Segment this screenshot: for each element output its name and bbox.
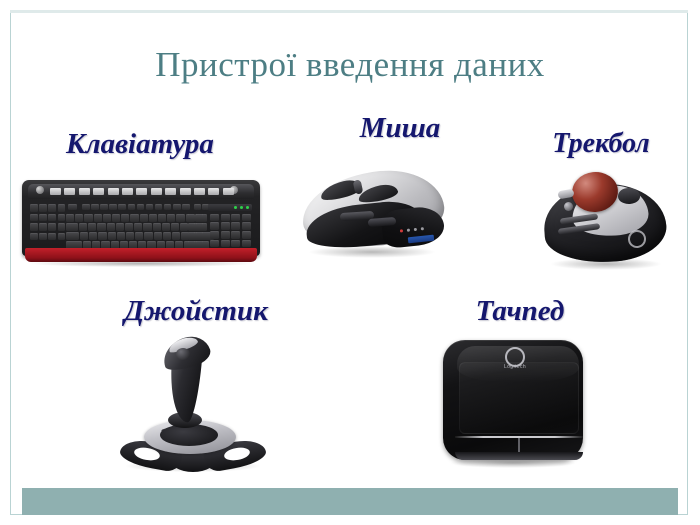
keyboard-key: [196, 232, 203, 240]
keyboard-key: [194, 204, 201, 210]
slide-frame-top-accent: [10, 10, 688, 13]
keyboard-media-key: [165, 188, 176, 195]
keyboard-key: [164, 204, 172, 210]
mouse-dpi-dot-active: [400, 229, 403, 232]
keyboard-key: [221, 214, 230, 222]
footer-accent-bar: [22, 488, 678, 515]
keyboard-key: [172, 232, 180, 240]
keyboard-key: [39, 233, 47, 241]
trackball-image: [540, 172, 672, 276]
keyboard-key: [173, 204, 181, 210]
mouse-dpi-dot: [414, 228, 417, 231]
keyboard-key: [75, 214, 83, 222]
keyboard-media-key: [122, 188, 133, 195]
keyboard-key: [98, 232, 106, 240]
keyboard-key: [30, 223, 38, 231]
keyboard-key: [163, 232, 171, 240]
label-joystick: Джойстик: [92, 295, 300, 328]
keyboard-key: [66, 223, 78, 231]
keyboard-key: [171, 223, 179, 231]
keyboard-led-numlock: [234, 206, 237, 209]
keyboard-key: [210, 231, 219, 239]
keyboard-key: [48, 223, 56, 231]
keyboard-key: [89, 232, 97, 240]
keyboard-key: [125, 223, 133, 231]
keyboard-key: [188, 232, 195, 240]
keyboard-key: [68, 204, 77, 210]
keyboard-key: [39, 204, 47, 212]
keyboard-key: [39, 223, 47, 231]
keyboard-key: [146, 204, 154, 210]
keyboard-led-panel: [208, 204, 252, 211]
keyboard-key: [167, 214, 175, 222]
keyboard-key: [108, 232, 116, 240]
touchpad-base-edge: [455, 452, 583, 460]
label-mouse: Миша: [320, 112, 480, 145]
touchpad-body: Logitech: [443, 340, 583, 460]
keyboard-key: [88, 223, 96, 231]
mouse-dpi-dot: [407, 229, 410, 232]
label-touchpad: Тачпед: [432, 295, 608, 328]
keyboard-key: [242, 214, 251, 222]
joystick-image: [118, 336, 268, 476]
keyboard-key: [48, 204, 56, 212]
keyboard-key: [48, 214, 56, 222]
keyboard-key: [94, 214, 102, 222]
keyboard-key: [231, 231, 240, 239]
mouse-image: [296, 168, 452, 268]
keyboard-key: [91, 204, 99, 210]
keyboard-key: [155, 204, 163, 210]
keyboard-key: [58, 214, 66, 222]
keyboard-key: [97, 223, 105, 231]
joystick-thumb-hat-switch: [176, 348, 190, 360]
keyboard-key: [134, 223, 142, 231]
keyboard-key: [137, 204, 145, 210]
keyboard-key: [153, 223, 161, 231]
keyboard-key: [66, 214, 74, 222]
keyboard-key: [196, 214, 203, 222]
keyboard-key: [126, 232, 134, 240]
keyboard-key: [80, 232, 88, 240]
keyboard-key: [118, 204, 126, 210]
touchpad-image: Logitech: [437, 340, 589, 468]
keyboard-key: [210, 222, 219, 230]
keyboard-media-key: [180, 188, 191, 195]
keyboard-key: [58, 204, 66, 212]
keyboard-key: [82, 204, 90, 210]
keyboard-key: [221, 222, 230, 230]
keyboard-key: [149, 214, 157, 222]
keyboard-key: [39, 214, 47, 222]
keyboard-body: [22, 180, 260, 256]
keyboard-key: [109, 204, 117, 210]
keyboard-key: [176, 214, 184, 222]
keyboard-key: [221, 240, 230, 248]
keyboard-key: [144, 232, 152, 240]
label-keyboard: Клавіатура: [20, 128, 260, 161]
keyboard-key: [188, 214, 195, 222]
keyboard-led-capslock: [240, 206, 243, 209]
keyboard-volume-knob: [36, 186, 44, 194]
keyboard-key: [103, 214, 111, 222]
keyboard-key: [58, 233, 66, 241]
keyboard-led-scrolllock: [246, 206, 249, 209]
slide-canvas: Пристрої введення даних Клавіатура Миша …: [0, 0, 700, 525]
keyboard-key: [221, 231, 230, 239]
keyboard-media-key: [64, 188, 75, 195]
keyboard-key: [58, 223, 66, 231]
keyboard-key: [143, 223, 151, 231]
trackball-mode-button: [564, 202, 573, 211]
mouse-shadow: [308, 246, 436, 258]
keyboard-key: [242, 240, 251, 248]
keyboard-media-key: [223, 188, 234, 195]
keyboard-media-key: [194, 188, 205, 195]
keyboard-key: [30, 233, 38, 241]
keyboard-key: [117, 232, 125, 240]
keyboard-key: [121, 214, 129, 222]
keyboard-media-key: [108, 188, 119, 195]
label-trackball: Трекбол: [512, 128, 690, 160]
keyboard-key: [182, 204, 190, 210]
keyboard-key: [210, 240, 219, 248]
keyboard-media-key: [151, 188, 162, 195]
keyboard-media-key: [208, 188, 219, 195]
keyboard-key: [242, 222, 251, 230]
keyboard-media-key: [93, 188, 104, 195]
keyboard-key: [30, 214, 38, 222]
mouse-dpi-dot: [421, 227, 424, 230]
keyboard-key: [231, 214, 240, 222]
keyboard-media-key: [136, 188, 147, 195]
keyboard-key: [79, 223, 87, 231]
keyboard-image: [22, 180, 260, 270]
page-title: Пристрої введення даних: [0, 44, 700, 86]
keyboard-key: [242, 231, 251, 239]
keyboard-key: [100, 204, 108, 210]
keyboard-key: [128, 204, 136, 210]
keyboard-key: [154, 232, 162, 240]
keyboard-key: [135, 232, 143, 240]
keyboard-key: [162, 223, 170, 231]
keyboard-key: [231, 222, 240, 230]
keyboard-key: [231, 240, 240, 248]
keyboard-key: [66, 232, 79, 240]
keyboard-key: [158, 214, 166, 222]
keyboard-key: [116, 223, 124, 231]
keyboard-key: [188, 223, 195, 231]
keyboard-key: [48, 233, 56, 241]
keyboard-red-base: [25, 248, 257, 262]
keyboard-key: [196, 223, 203, 231]
keyboard-media-key: [79, 188, 90, 195]
keyboard-key: [112, 214, 120, 222]
keyboard-key: [130, 214, 138, 222]
keyboard-key: [107, 223, 115, 231]
keyboard-key: [84, 214, 92, 222]
keyboard-media-keys: [50, 188, 236, 195]
keyboard-key: [30, 204, 38, 212]
touchpad-touch-surface: [459, 362, 579, 434]
keyboard-media-key: [50, 188, 61, 195]
keyboard-key: [140, 214, 148, 222]
keyboard-key: [210, 214, 219, 222]
